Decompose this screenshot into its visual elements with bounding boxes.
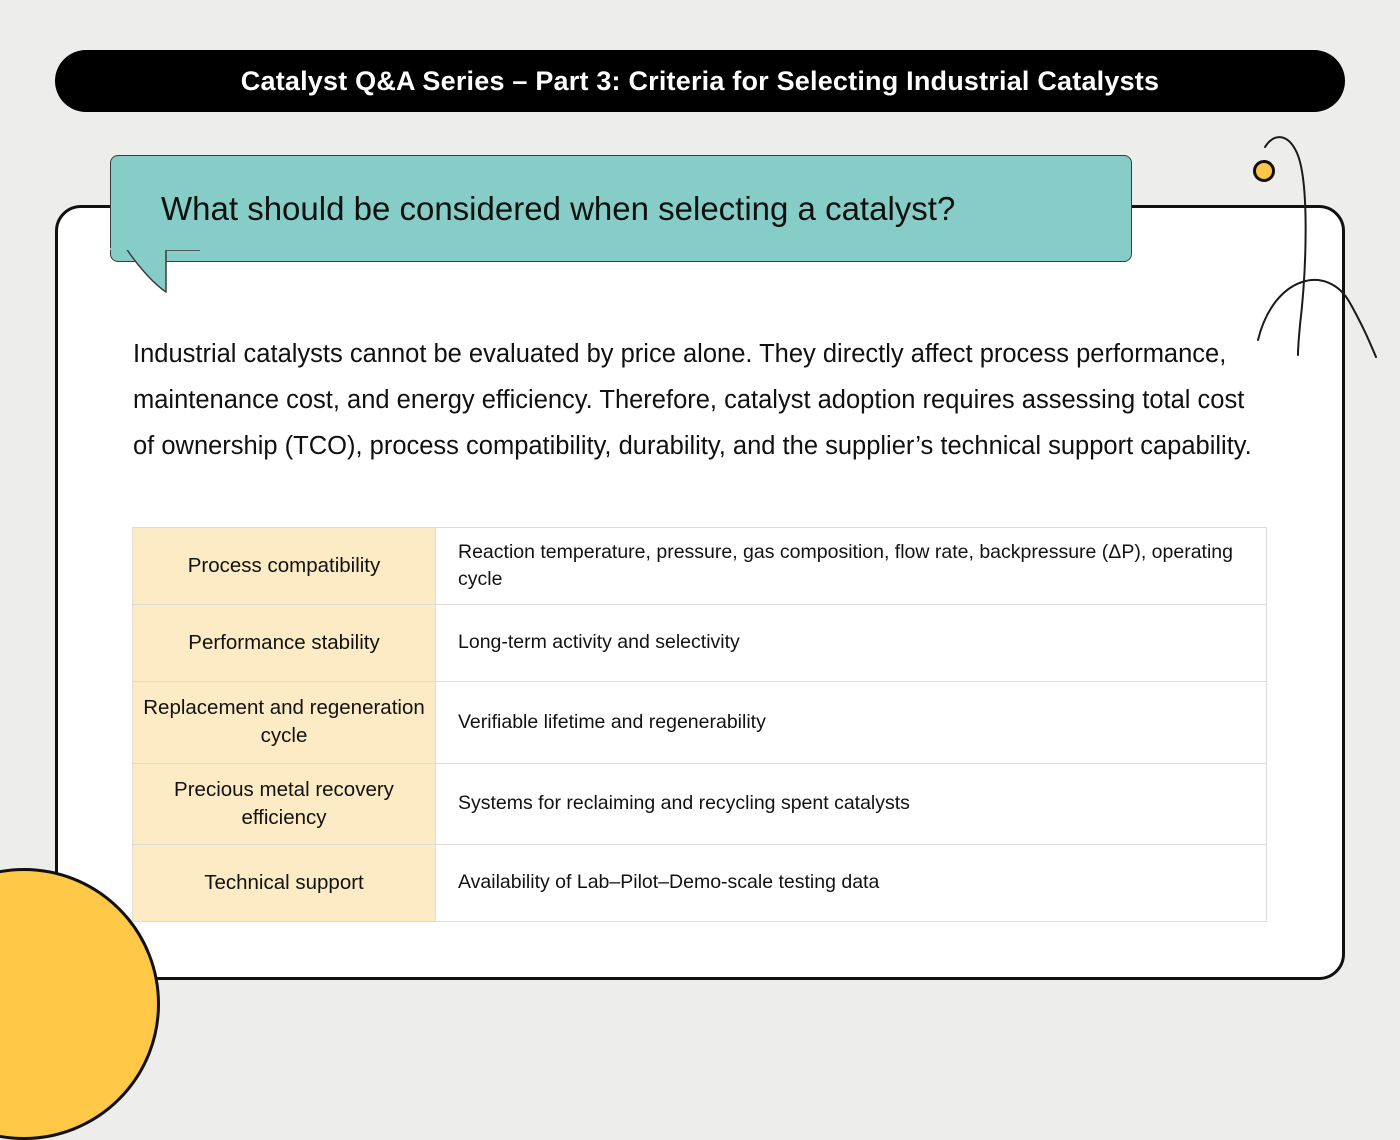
slide-canvas: Catalyst Q&A Series – Part 3: Criteria f… [0, 0, 1400, 1050]
table-row: Technical support Availability of Lab–Pi… [133, 845, 1267, 922]
criteria-description: Verifiable lifetime and regenerability [436, 682, 1267, 764]
criteria-description: Availability of Lab–Pilot–Demo-scale tes… [436, 845, 1267, 922]
page-title: Catalyst Q&A Series – Part 3: Criteria f… [241, 66, 1159, 97]
table-row: Performance stability Long-term activity… [133, 605, 1267, 682]
criteria-term: Precious metal recovery efficiency [133, 763, 436, 845]
table-row: Process compatibility Reaction temperatu… [133, 528, 1267, 605]
criteria-description: Long-term activity and selectivity [436, 605, 1267, 682]
table-row: Precious metal recovery efficiency Syste… [133, 763, 1267, 845]
criteria-term: Performance stability [133, 605, 436, 682]
criteria-term: Replacement and regeneration cycle [133, 682, 436, 764]
question-text: What should be considered when selecting… [111, 190, 955, 228]
table-row: Replacement and regeneration cycle Verif… [133, 682, 1267, 764]
criteria-description: Systems for reclaiming and recycling spe… [436, 763, 1267, 845]
body-paragraph: Industrial catalysts cannot be evaluated… [133, 331, 1263, 469]
question-bubble: What should be considered when selecting… [110, 155, 1132, 262]
yellow-dot-decoration [1253, 160, 1275, 182]
criteria-term: Process compatibility [133, 528, 436, 605]
slide-title-bar: Catalyst Q&A Series – Part 3: Criteria f… [55, 50, 1345, 112]
criteria-description: Reaction temperature, pressure, gas comp… [436, 528, 1267, 605]
criteria-table-body: Process compatibility Reaction temperatu… [133, 528, 1267, 922]
criteria-term: Technical support [133, 845, 436, 922]
criteria-table: Process compatibility Reaction temperatu… [132, 527, 1267, 922]
